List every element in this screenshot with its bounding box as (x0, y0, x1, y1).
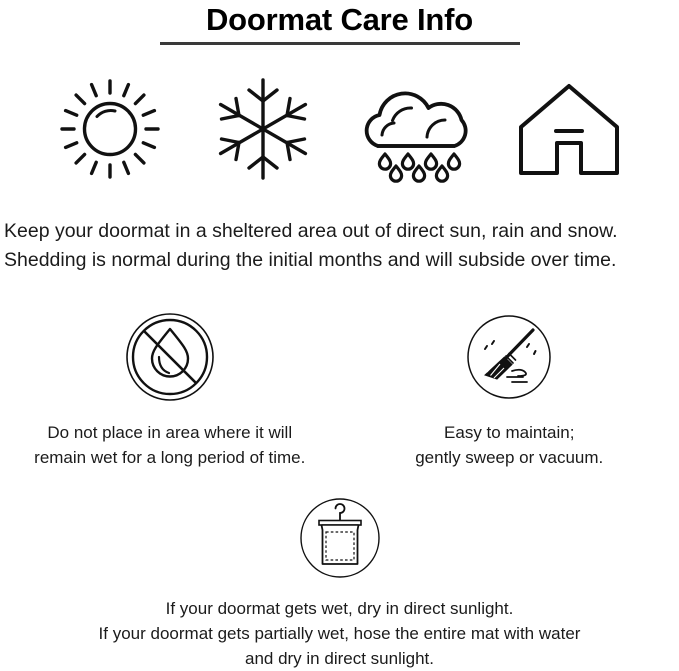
intro-paragraph: Keep your doormat in a sheltered area ou… (0, 189, 679, 275)
tip-caption-line-2: remain wet for a long period of time. (34, 445, 305, 470)
sun-icon (42, 69, 178, 189)
tip-easy-maintain: Easy to maintain; gently sweep or vacuum… (340, 307, 679, 470)
hang-dry-icon (294, 492, 386, 584)
bottom-tip-caption: If your doormat gets wet, dry in direct … (99, 596, 581, 671)
no-water-icon (120, 307, 220, 407)
weather-icon-row (0, 45, 679, 189)
house-icon (501, 69, 637, 189)
snowflake-icon (195, 69, 331, 189)
tips-row: Do not place in area where it will remai… (0, 307, 679, 470)
tip-caption-line-1: Easy to maintain; (415, 420, 603, 445)
rain-cloud-icon (348, 69, 484, 189)
page-title: Doormat Care Info (0, 2, 679, 38)
tip-no-standing-water: Do not place in area where it will remai… (0, 307, 340, 470)
intro-line-2: Shedding is normal during the initial mo… (4, 246, 675, 275)
tip-caption-line-2: gently sweep or vacuum. (415, 445, 603, 470)
tip-caption: Easy to maintain; gently sweep or vacuum… (415, 420, 603, 470)
tip-caption-line-1: Do not place in area where it will (34, 420, 305, 445)
bottom-caption-line-3: and dry in direct sunlight. (99, 646, 581, 671)
page-header: Doormat Care Info (0, 0, 679, 45)
bottom-tip: If your doormat gets wet, dry in direct … (0, 492, 679, 671)
intro-line-1: Keep your doormat in a sheltered area ou… (4, 217, 675, 246)
bottom-caption-line-2: If your doormat gets partially wet, hose… (99, 621, 581, 646)
broom-sweep-icon (459, 307, 559, 407)
bottom-caption-line-1: If your doormat gets wet, dry in direct … (99, 596, 581, 621)
tip-caption: Do not place in area where it will remai… (34, 420, 305, 470)
